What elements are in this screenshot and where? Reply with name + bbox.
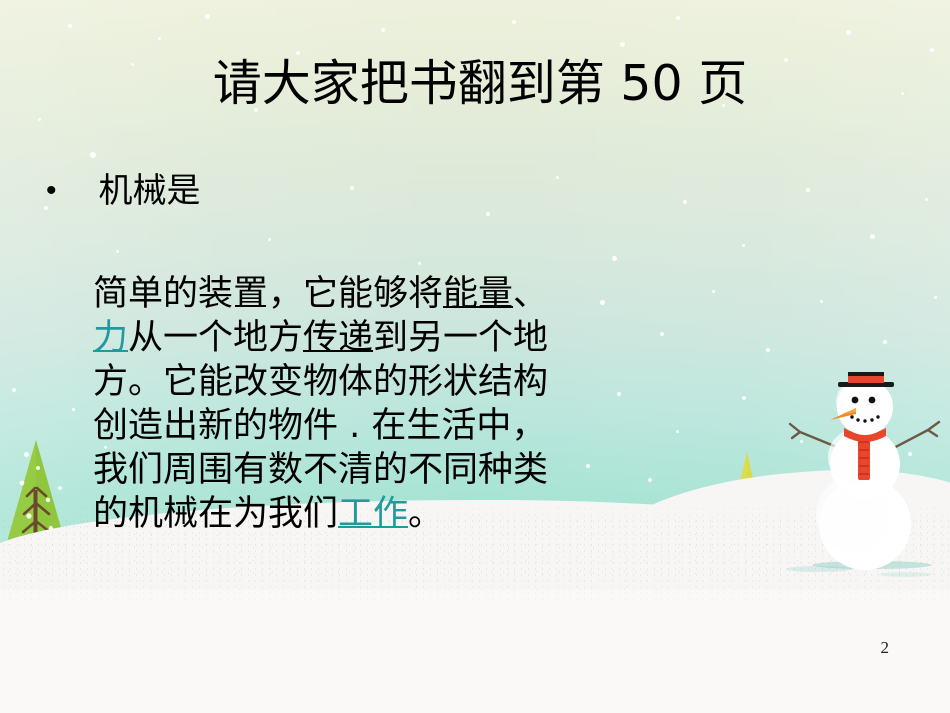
body-text-run: 。 [408, 494, 443, 534]
snowman-icon [782, 372, 950, 572]
body-paragraph: 简单的装置，它能够将能量、力从一个地方传递到另一个地方。它能改变物体的形状结构创… [93, 272, 568, 536]
body-text-run: 、 [513, 274, 548, 314]
hyperlink[interactable]: 工作 [338, 494, 408, 534]
bullet-label: 机械是 [99, 168, 201, 214]
hyperlink[interactable]: 力 [93, 318, 128, 358]
page-title: 请大家把书翻到第 50 页 [120, 54, 840, 114]
snowman [782, 372, 950, 572]
bullet-marker: • [46, 168, 57, 214]
emphasis-underline: 传递 [303, 318, 373, 358]
presentation-slide: 请大家把书翻到第 50 页 • 机械是 简单的装置，它能够将能量、力从一个地方传… [0, 0, 950, 713]
body-text-run: 简单的装置，它能够将 [93, 274, 443, 314]
body-text-run: 从一个地方 [128, 318, 303, 358]
snow-shadow-c [880, 572, 932, 577]
page-number: 2 [881, 638, 890, 658]
emphasis-underline: 能量 [443, 274, 513, 314]
bullet-item: • 机械是 [46, 168, 201, 214]
